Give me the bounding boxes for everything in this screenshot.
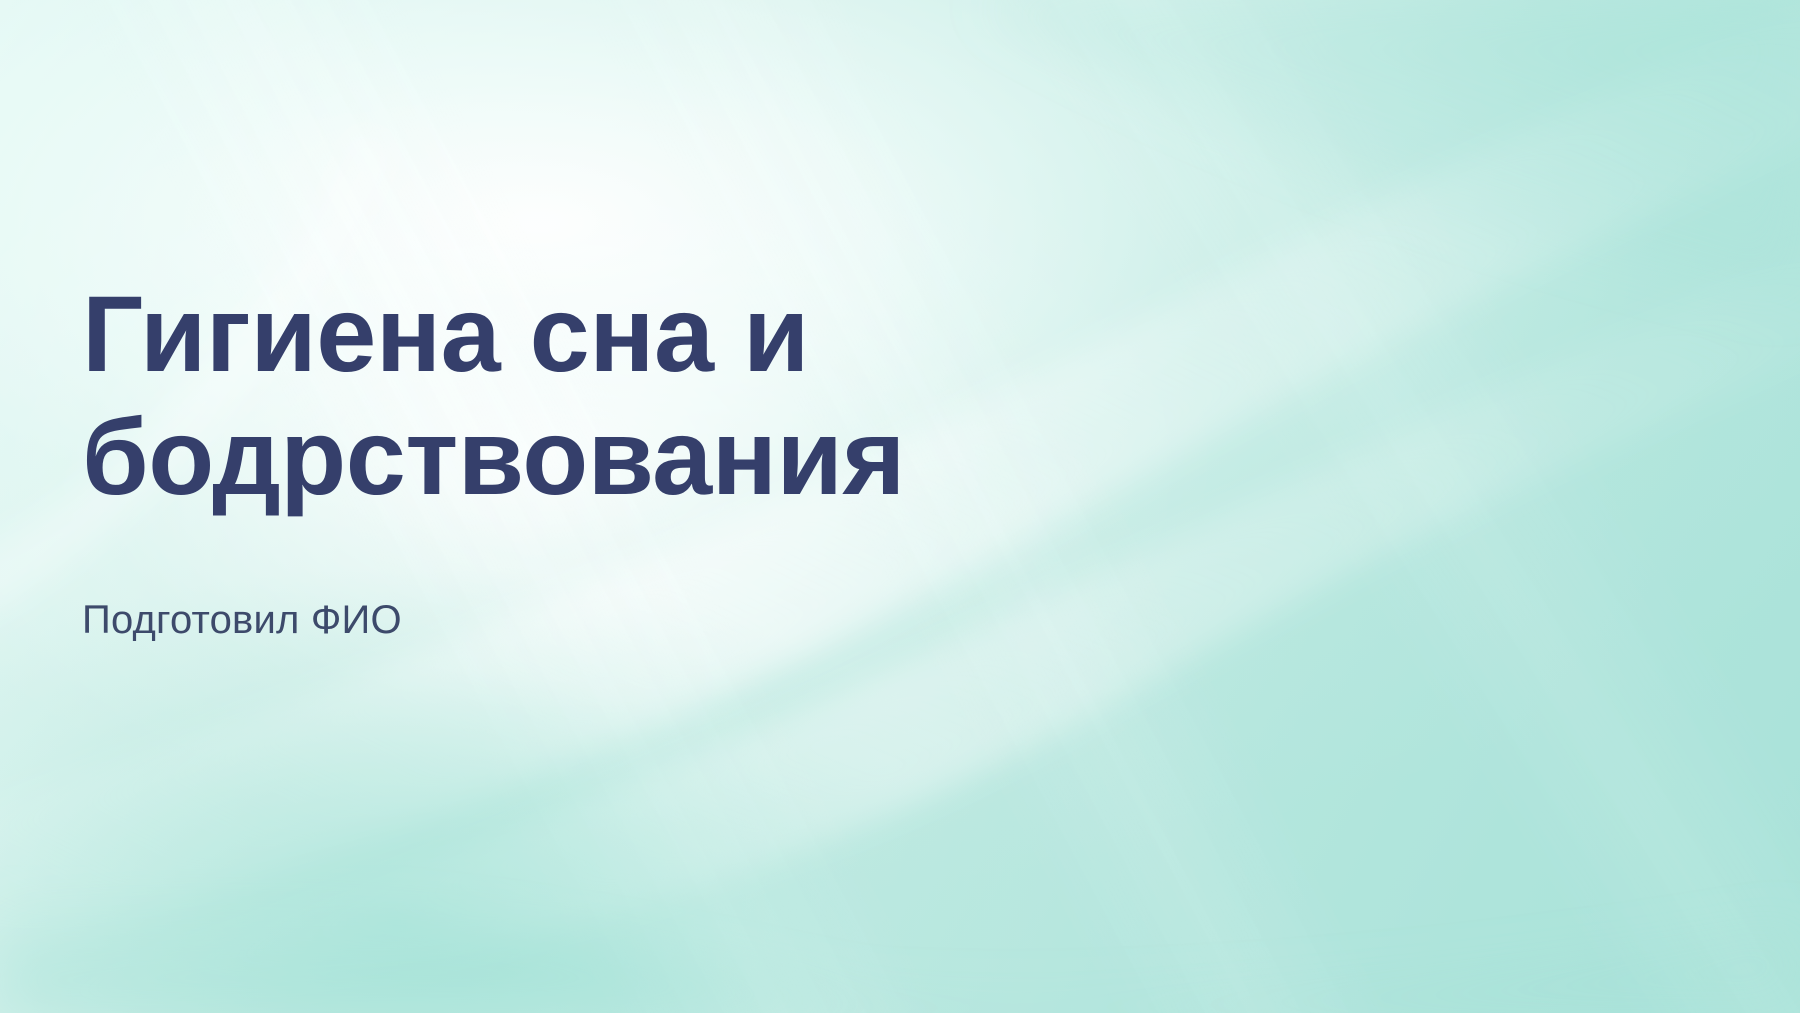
wave-band-upper-right	[980, 0, 1800, 300]
presentation-slide: Гигиена сна и бодрствования Подготовил Ф…	[0, 0, 1800, 1013]
slide-text-block: Гигиена сна и бодрствования Подготовил Ф…	[82, 272, 1202, 644]
slide-subtitle: Подготовил ФИО	[82, 518, 1202, 644]
slide-title: Гигиена сна и бодрствования	[82, 272, 1202, 518]
wave-band-bottom	[0, 899, 1800, 1013]
